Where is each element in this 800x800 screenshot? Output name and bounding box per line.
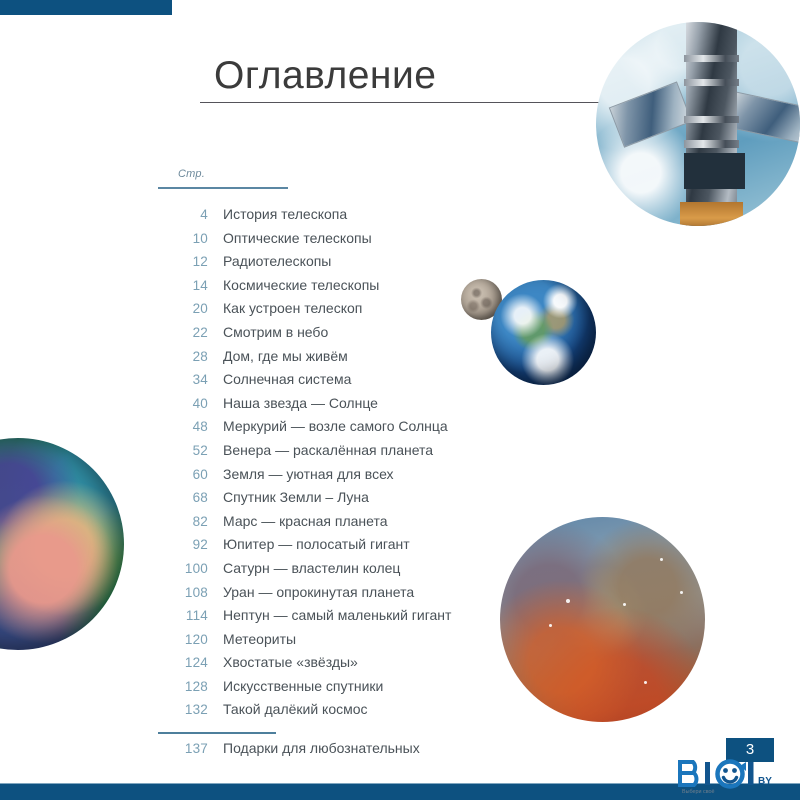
table-of-contents: 4История телескопа10Оптические телескопы… <box>158 206 488 764</box>
toc-entry[interactable]: 28Дом, где мы живём <box>158 348 488 372</box>
toc-entry[interactable]: 120Метеориты <box>158 631 488 655</box>
bigi-by-logo[interactable]: BY Выбери своё <box>676 758 788 796</box>
hubble-ring-1 <box>684 55 739 62</box>
toc-entry-page: 48 <box>158 419 208 434</box>
hubble-space-telescope-photo <box>596 22 800 226</box>
toc-entry-page: 34 <box>158 372 208 387</box>
toc-entry-title: Юпитер — полосатый гигант <box>208 536 410 552</box>
toc-entry-title: Как устроен телескоп <box>208 300 362 316</box>
toc-entry-title: Метеориты <box>208 631 296 647</box>
toc-entry-page: 4 <box>158 207 208 222</box>
toc-entry[interactable]: 128Искусственные спутники <box>158 678 488 702</box>
toc-entry[interactable]: 82Марс — красная планета <box>158 513 488 537</box>
toc-page: Оглавление Стр. 4История телескопа10Опти… <box>0 0 800 800</box>
toc-entry-title: Меркурий — возле самого Солнца <box>208 418 448 434</box>
bigi-by-suffix: BY <box>758 776 772 787</box>
earth-photo <box>491 280 596 385</box>
nebula-star <box>623 603 626 606</box>
hubble-base-module <box>680 202 743 226</box>
toc-entry-title: История телескопа <box>208 206 347 222</box>
toc-entry-title: Марс — красная планета <box>208 513 388 529</box>
toc-entry-title: Дом, где мы живём <box>208 348 348 364</box>
page-title: Оглавление <box>214 56 436 95</box>
toc-entry-page: 10 <box>158 231 208 246</box>
toc-entry[interactable]: 137Подарки для любознательных <box>158 740 488 764</box>
nebula-star <box>644 681 647 684</box>
toc-entry-page: 128 <box>158 679 208 694</box>
toc-entry-page: 22 <box>158 325 208 340</box>
toc-entry-page: 12 <box>158 254 208 269</box>
toc-entry[interactable]: 124Хвостатые «звёзды» <box>158 654 488 678</box>
hubble-instrument-bay <box>684 153 745 190</box>
toc-entry-title: Космические телескопы <box>208 277 379 293</box>
venus-radar-map-photo <box>0 438 124 650</box>
toc-entry-title: Венера — раскалённая планета <box>208 442 433 458</box>
bigi-by-logo-mark: BY Выбери своё <box>676 758 788 796</box>
toc-entry-page: 20 <box>158 301 208 316</box>
page-column-label: Стр. <box>178 168 205 180</box>
nebula-star <box>680 591 683 594</box>
toc-entry-title: Оптические телескопы <box>208 230 372 246</box>
hubble-telescope-body <box>686 22 737 226</box>
toc-entry-title: Радиотелескопы <box>208 253 331 269</box>
toc-entry[interactable]: 14Космические телескопы <box>158 277 488 301</box>
toc-entry[interactable]: 22Смотрим в небо <box>158 324 488 348</box>
toc-entry-page: 68 <box>158 490 208 505</box>
bigi-by-tagline: Выбери своё <box>682 789 715 795</box>
hubble-ring-3 <box>684 116 739 123</box>
toc-entry-page: 40 <box>158 396 208 411</box>
toc-entry-page: 52 <box>158 443 208 458</box>
toc-entry[interactable]: 100Сатурн — властелин колец <box>158 560 488 584</box>
toc-entry-title: Спутник Земли – Луна <box>208 489 369 505</box>
toc-entry-page: 120 <box>158 632 208 647</box>
toc-entry-title: Наша звезда — Солнце <box>208 395 378 411</box>
toc-entry-page: 124 <box>158 655 208 670</box>
toc-entry-page: 108 <box>158 585 208 600</box>
hubble-ring-2 <box>684 79 739 86</box>
toc-entry[interactable]: 12Радиотелескопы <box>158 253 488 277</box>
toc-entry-title: Подарки для любознательных <box>208 740 420 756</box>
toc-entry-page: 14 <box>158 278 208 293</box>
toc-entry-title: Хвостатые «звёзды» <box>208 654 358 670</box>
toc-entry-page: 92 <box>158 537 208 552</box>
toc-entry[interactable]: 60Земля — уютная для всех <box>158 466 488 490</box>
toc-entry-title: Уран — опрокинутая планета <box>208 584 414 600</box>
toc-entry-page: 100 <box>158 561 208 576</box>
toc-entry[interactable]: 132Такой далёкий космос <box>158 701 488 725</box>
toc-entry[interactable]: 20Как устроен телескоп <box>158 300 488 324</box>
toc-final-divider <box>158 732 276 734</box>
nebula-photo <box>500 517 705 722</box>
hubble-ring-4 <box>684 140 739 147</box>
toc-entry-page: 114 <box>158 608 208 623</box>
toc-entry-title: Земля — уютная для всех <box>208 466 394 482</box>
toc-entry-title: Сатурн — властелин колец <box>208 560 400 576</box>
toc-entry-page: 60 <box>158 467 208 482</box>
nebula-star <box>660 558 663 561</box>
toc-entry-title: Нептун — самый маленький гигант <box>208 607 451 623</box>
toc-entry-page: 137 <box>158 741 208 756</box>
top-left-blue-bar <box>0 0 172 15</box>
toc-entry[interactable]: 48Меркурий — возле самого Солнца <box>158 418 488 442</box>
toc-entry[interactable]: 114Нептун — самый маленький гигант <box>158 607 488 631</box>
toc-entry[interactable]: 68Спутник Земли – Луна <box>158 489 488 513</box>
title-divider <box>200 102 632 103</box>
hubble-solar-panel-left <box>609 82 693 148</box>
toc-entry-page: 132 <box>158 702 208 717</box>
toc-entry[interactable]: 4История телескопа <box>158 206 488 230</box>
nebula-star <box>549 624 552 627</box>
toc-entry-page: 28 <box>158 349 208 364</box>
toc-entry[interactable]: 108Уран — опрокинутая планета <box>158 584 488 608</box>
toc-entry-title: Смотрим в небо <box>208 324 328 340</box>
toc-entry[interactable]: 52Венера — раскалённая планета <box>158 442 488 466</box>
toc-entry-page: 82 <box>158 514 208 529</box>
toc-entry[interactable]: 40Наша звезда — Солнце <box>158 395 488 419</box>
toc-entry-title: Солнечная система <box>208 371 351 387</box>
toc-entry[interactable]: 34Солнечная система <box>158 371 488 395</box>
toc-entry-title: Такой далёкий космос <box>208 701 368 717</box>
toc-entry[interactable]: 92Юпитер — полосатый гигант <box>158 536 488 560</box>
toc-entry[interactable]: 10Оптические телескопы <box>158 230 488 254</box>
toc-entry-title: Искусственные спутники <box>208 678 383 694</box>
page-column-divider <box>158 187 288 189</box>
nebula-star <box>566 599 570 603</box>
